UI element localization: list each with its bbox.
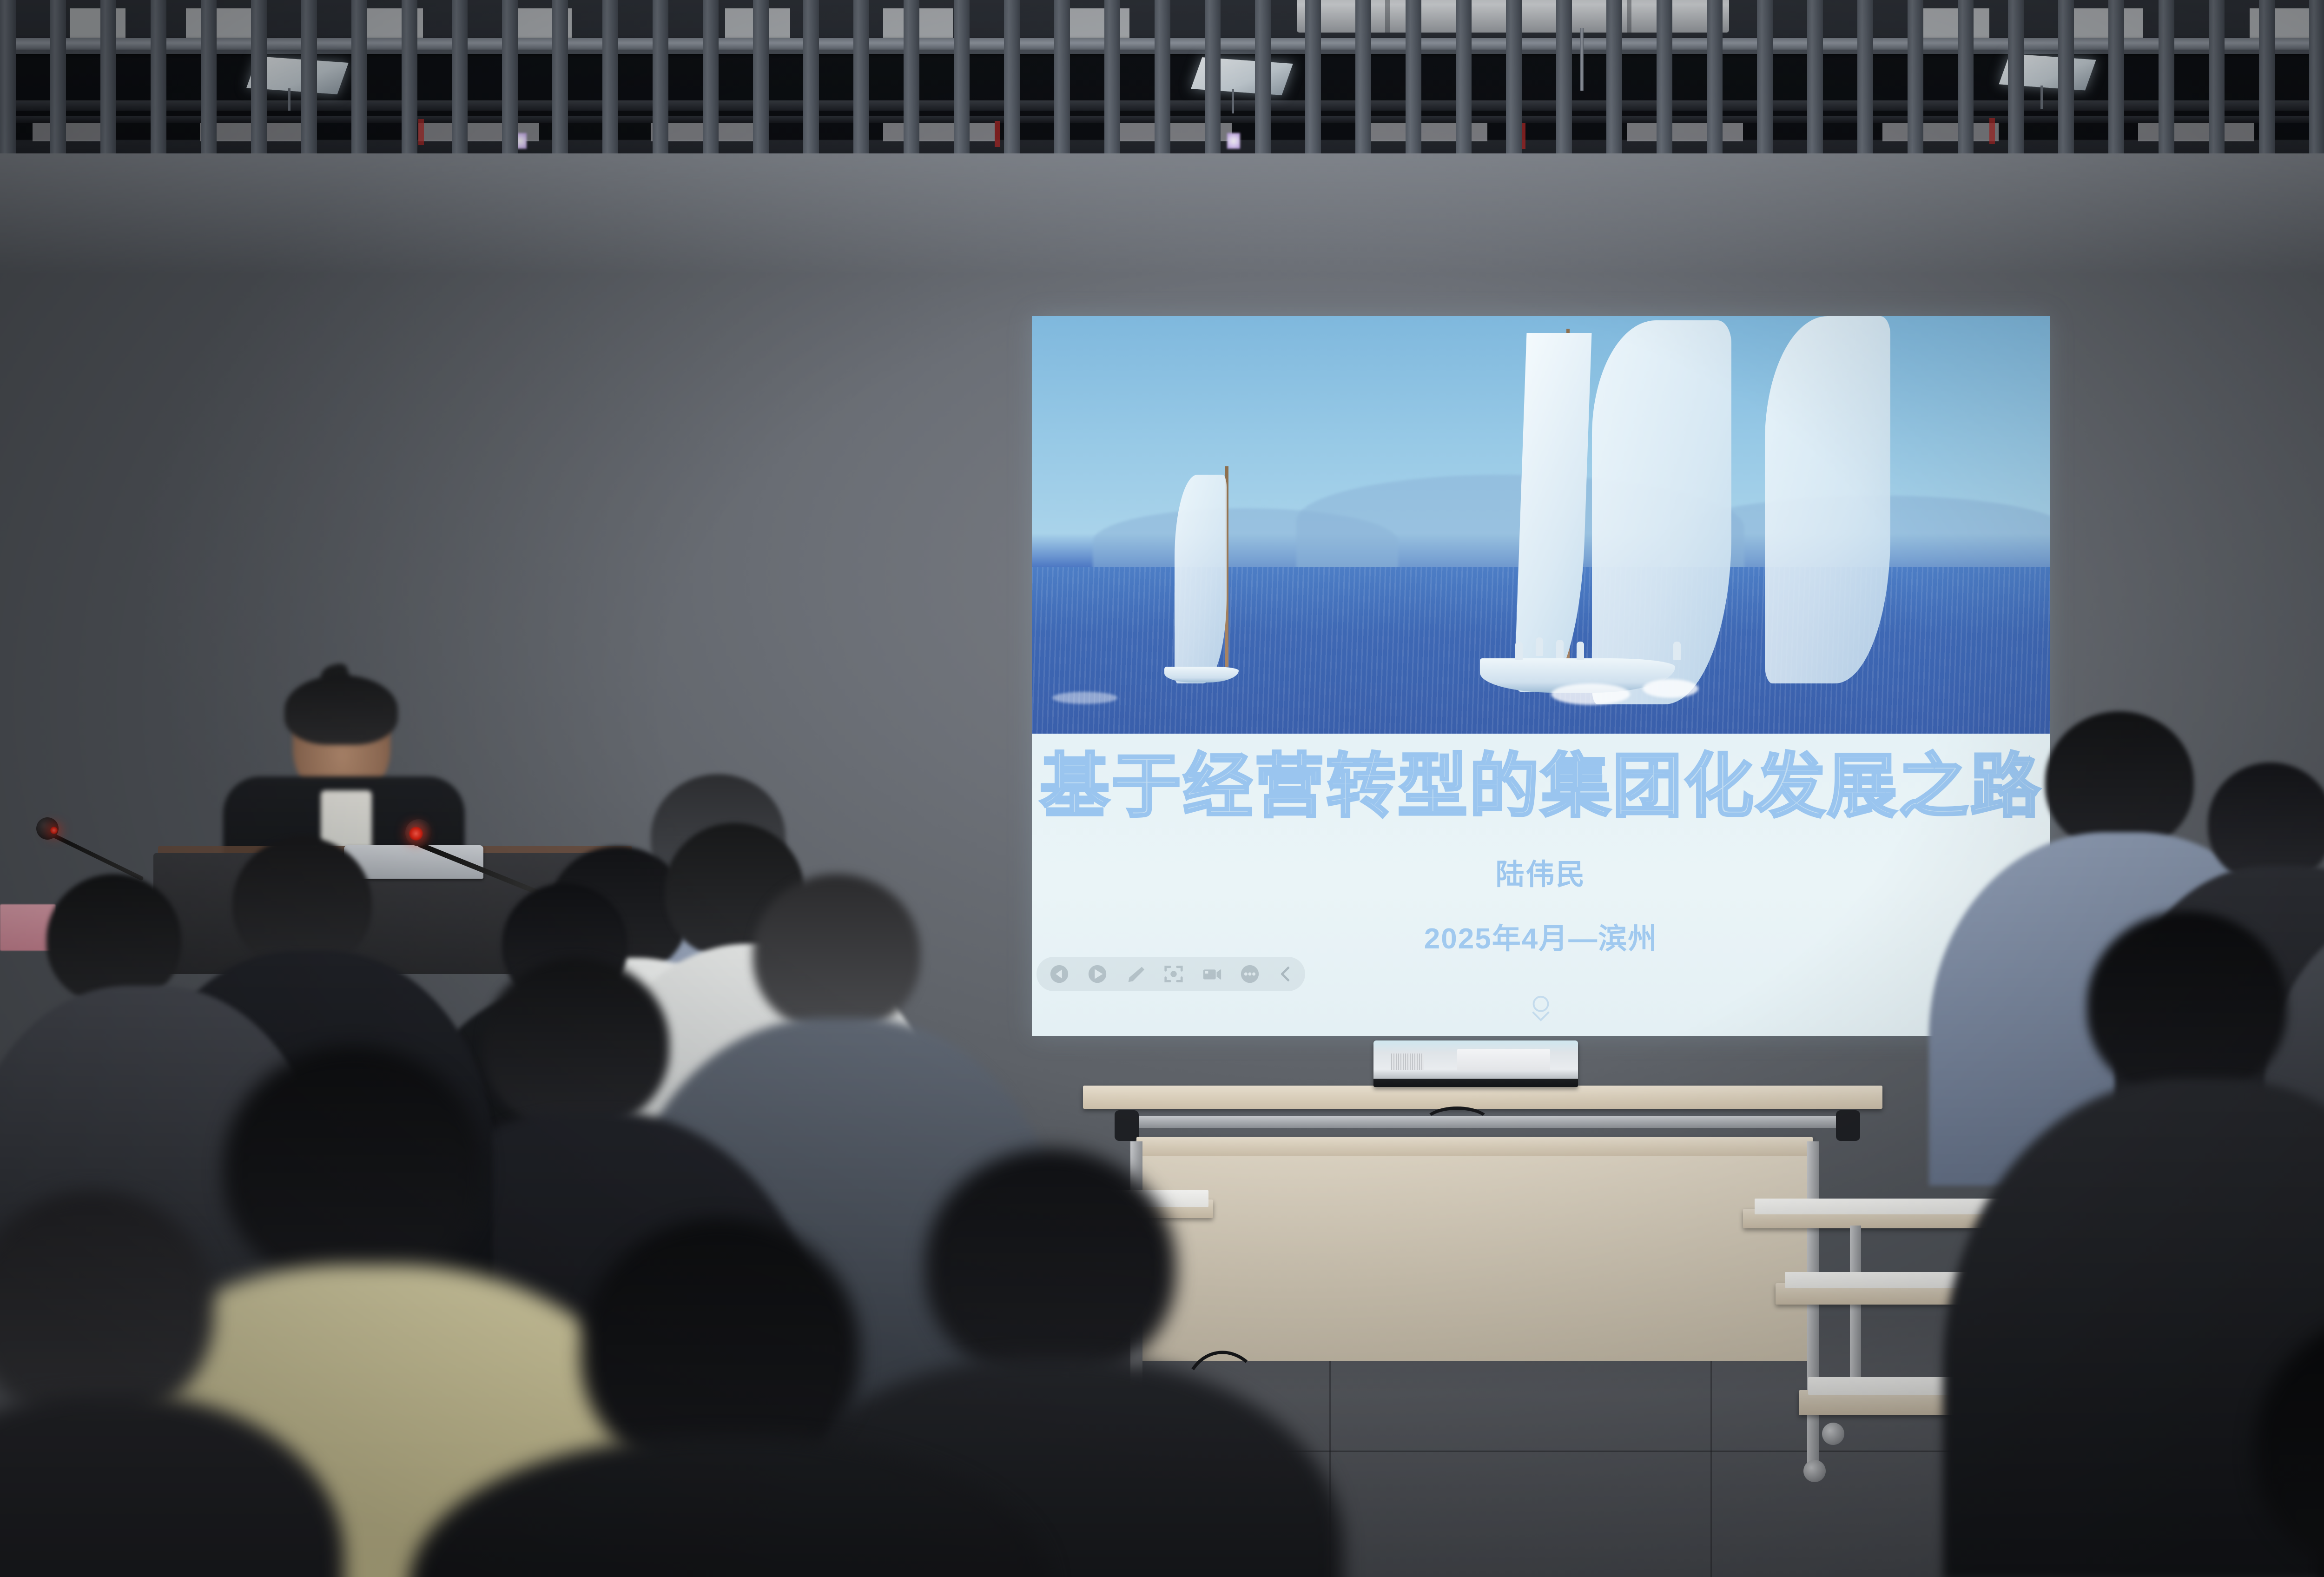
attendee-head	[46, 874, 181, 1004]
microphone-status-led	[409, 827, 423, 841]
previous-slide-icon[interactable]	[1049, 963, 1070, 985]
attendee-head	[2045, 711, 2194, 851]
slide-watermark-icon	[1527, 994, 1554, 1023]
desk-caster-wheel	[1803, 1460, 1826, 1482]
microphone-status-led	[50, 827, 58, 834]
conference-room-scene: 基于经营转型的集团化发展之路 陆伟民 2025年4月—滨州	[0, 0, 2324, 1577]
exposed-ceiling	[0, 0, 2324, 153]
light-panel-stem	[1232, 89, 1234, 113]
pen-annotate-icon[interactable]	[1125, 963, 1146, 985]
desk-modesty-panel	[1139, 1156, 1808, 1361]
folding-training-desk	[1136, 1137, 1813, 1156]
video-record-icon[interactable]	[1201, 963, 1222, 985]
slide-title: 基于经营转型的集团化发展之路	[1032, 751, 2050, 821]
attendee-head	[753, 874, 920, 1032]
wall-light-sheen	[0, 153, 2324, 274]
projector-desk-top	[1083, 1086, 1882, 1109]
ceiling-gap	[186, 8, 256, 42]
hanger-rod	[1580, 28, 1584, 91]
attendee-head	[2087, 911, 2287, 1097]
ceiling-gap-lower	[1882, 122, 1999, 141]
attendee-head	[483, 958, 669, 1130]
presentation-toolbar[interactable]	[1037, 957, 1305, 991]
presenter-hair	[284, 675, 398, 745]
fire-valve-marker	[418, 119, 424, 145]
light-panel-stem	[288, 88, 290, 111]
foreground-attendee-head	[925, 1148, 1176, 1381]
more-options-icon[interactable]	[1239, 963, 1261, 985]
projected-slide[interactable]: 基于经营转型的集团化发展之路 陆伟民 2025年4月—滨州	[1032, 316, 2050, 1036]
ceiling-gap-lower	[33, 122, 107, 141]
ceiling-gap	[1069, 8, 1129, 42]
desk-caster-wheel	[1822, 1423, 1844, 1445]
slide-author: 陆伟民	[1032, 851, 2050, 893]
focus-spotlight-icon[interactable]	[1163, 963, 1184, 985]
projector-port-panel	[1457, 1049, 1550, 1071]
ceiling-gap	[2068, 8, 2143, 42]
duct-band	[1627, 0, 1631, 33]
slide-photo	[1032, 316, 2050, 734]
fire-valve-marker	[1989, 118, 1995, 144]
ceiling-gap-lower	[1627, 122, 1743, 141]
ceiling-led	[1227, 133, 1240, 149]
ceiling-gap	[1920, 8, 1989, 42]
fire-valve-marker	[995, 121, 1000, 147]
ceiling-gap-lower	[883, 122, 995, 141]
desk-bracket	[1836, 1110, 1860, 1141]
projector-vent-grille	[1391, 1054, 1424, 1070]
slide-date-location: 2025年4月—滨州	[1032, 915, 2050, 957]
ceiling-gap-lower	[2138, 122, 2254, 141]
foreground-attendee-head	[223, 1046, 483, 1288]
attendee-head	[232, 837, 372, 969]
light-panel-stem	[2040, 86, 2043, 109]
attendee-head	[2208, 762, 2324, 883]
play-slide-icon[interactable]	[1087, 963, 1108, 985]
ceiling-gap	[70, 8, 125, 42]
collapse-toolbar-icon[interactable]	[1277, 963, 1293, 985]
desk-bracket	[1115, 1110, 1139, 1141]
duct-band	[1385, 0, 1390, 33]
